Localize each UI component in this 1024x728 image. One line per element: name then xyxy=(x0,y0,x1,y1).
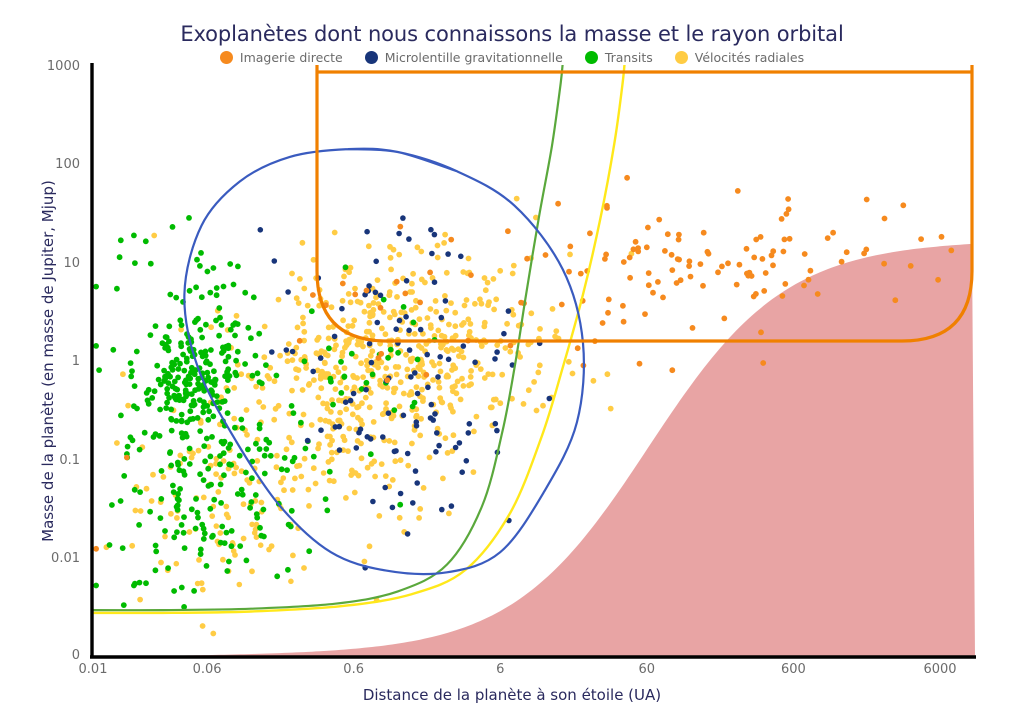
data-point xyxy=(223,359,229,365)
data-point xyxy=(621,259,627,265)
data-point xyxy=(436,443,442,449)
data-point xyxy=(534,408,540,414)
data-point xyxy=(758,329,764,335)
data-point xyxy=(178,340,184,346)
contour-transits xyxy=(86,54,564,611)
data-point xyxy=(382,485,388,491)
data-point xyxy=(149,498,155,504)
data-point xyxy=(296,367,302,373)
data-point xyxy=(450,388,456,394)
data-point xyxy=(197,397,203,403)
data-point xyxy=(332,334,338,340)
data-point xyxy=(181,456,187,462)
data-point xyxy=(148,332,154,338)
data-point xyxy=(459,469,465,475)
data-point xyxy=(433,298,439,304)
data-point xyxy=(468,374,474,380)
data-point xyxy=(121,602,127,608)
data-point xyxy=(383,365,389,371)
data-point xyxy=(444,347,450,353)
data-point xyxy=(249,568,255,574)
data-point xyxy=(242,361,248,367)
data-point xyxy=(806,277,812,283)
plot-area xyxy=(0,0,1024,728)
data-point xyxy=(177,317,183,323)
data-point xyxy=(379,326,385,332)
data-point xyxy=(725,260,731,266)
data-point xyxy=(129,543,135,549)
data-point xyxy=(162,534,168,540)
data-point xyxy=(354,445,360,451)
data-point xyxy=(227,373,233,379)
data-point xyxy=(453,333,459,339)
data-point xyxy=(346,340,352,346)
data-point xyxy=(368,436,374,442)
data-point xyxy=(379,461,385,467)
data-point xyxy=(543,252,549,258)
data-point xyxy=(464,458,470,464)
data-point xyxy=(125,403,131,409)
data-point xyxy=(392,440,398,446)
data-point xyxy=(315,395,321,401)
data-point xyxy=(93,343,99,349)
data-point xyxy=(337,447,343,453)
data-point xyxy=(186,215,192,221)
data-point xyxy=(306,503,312,509)
data-point xyxy=(390,477,396,483)
data-point xyxy=(239,487,245,493)
data-point xyxy=(416,515,422,521)
data-point xyxy=(315,446,321,452)
data-point xyxy=(348,299,354,305)
data-point xyxy=(367,341,373,347)
data-point xyxy=(225,410,231,416)
data-point xyxy=(908,263,914,269)
data-point xyxy=(645,225,651,231)
data-point xyxy=(191,588,197,594)
data-point xyxy=(881,261,887,267)
data-point xyxy=(327,376,333,382)
data-point xyxy=(467,329,473,335)
data-point xyxy=(301,565,307,571)
data-point xyxy=(229,543,235,549)
data-point xyxy=(428,227,434,233)
data-point xyxy=(669,367,675,373)
data-point xyxy=(388,267,394,273)
data-point xyxy=(143,238,149,244)
data-point xyxy=(386,438,392,444)
data-point xyxy=(621,319,627,325)
data-point xyxy=(153,543,159,549)
data-point xyxy=(132,260,138,266)
data-point xyxy=(802,251,808,257)
data-point xyxy=(125,444,131,450)
data-point xyxy=(505,228,511,234)
data-point xyxy=(408,358,414,364)
data-point xyxy=(166,395,172,401)
data-point xyxy=(461,383,467,389)
data-point xyxy=(409,307,415,313)
data-point xyxy=(130,437,136,443)
data-point xyxy=(96,367,102,373)
data-point xyxy=(401,391,407,397)
data-point xyxy=(198,551,204,557)
data-point xyxy=(329,304,335,310)
data-point xyxy=(444,372,450,378)
data-point xyxy=(412,400,418,406)
data-point xyxy=(430,417,436,423)
data-point xyxy=(196,386,202,392)
data-point xyxy=(298,474,304,480)
data-point xyxy=(497,400,503,406)
data-point xyxy=(297,338,303,344)
data-point xyxy=(187,381,193,387)
data-point xyxy=(168,407,174,413)
data-point xyxy=(348,398,354,404)
data-point xyxy=(200,409,206,415)
data-point xyxy=(359,400,365,406)
data-point xyxy=(669,267,675,273)
data-point xyxy=(286,341,292,347)
data-point xyxy=(349,351,355,357)
data-point xyxy=(222,540,228,546)
data-point xyxy=(217,315,223,321)
data-point xyxy=(318,427,324,433)
data-point xyxy=(365,367,371,373)
data-point xyxy=(665,231,671,237)
data-point xyxy=(333,342,339,348)
data-point xyxy=(200,623,206,629)
data-point xyxy=(644,244,650,250)
data-point xyxy=(437,354,443,360)
data-point xyxy=(234,313,240,319)
data-point xyxy=(284,347,290,353)
x-tick-label: 0.6 xyxy=(319,662,389,677)
data-point xyxy=(343,495,349,501)
data-point xyxy=(208,454,214,460)
data-point xyxy=(93,284,99,290)
data-point xyxy=(511,263,517,269)
data-point xyxy=(364,380,370,386)
data-point xyxy=(535,370,541,376)
data-point xyxy=(452,323,458,329)
data-point xyxy=(591,378,597,384)
data-point xyxy=(263,362,269,368)
data-point xyxy=(514,196,520,202)
data-point xyxy=(676,237,682,243)
data-point xyxy=(321,470,327,476)
data-point xyxy=(269,349,275,355)
data-point xyxy=(255,370,261,376)
data-point xyxy=(261,534,267,540)
data-point xyxy=(158,560,164,566)
data-point xyxy=(453,445,459,451)
data-point xyxy=(231,385,237,391)
data-point xyxy=(385,355,391,361)
data-point xyxy=(235,321,241,327)
data-point xyxy=(174,515,180,521)
data-point xyxy=(352,286,358,292)
data-point xyxy=(336,369,342,375)
data-point xyxy=(272,258,278,264)
data-point xyxy=(289,403,295,409)
data-point xyxy=(290,487,296,493)
data-point xyxy=(375,277,381,283)
data-point xyxy=(187,408,193,414)
data-point xyxy=(256,399,262,405)
data-point xyxy=(177,361,183,367)
data-point xyxy=(262,453,268,459)
data-point xyxy=(205,375,211,381)
data-point xyxy=(892,297,898,303)
data-point xyxy=(179,419,185,425)
data-point xyxy=(427,270,433,276)
data-point xyxy=(327,442,333,448)
data-point xyxy=(449,346,455,352)
data-point xyxy=(578,271,584,277)
data-point xyxy=(526,387,532,393)
data-point xyxy=(169,417,175,423)
data-point xyxy=(397,224,403,230)
data-point xyxy=(444,270,450,276)
data-point xyxy=(235,264,241,270)
data-point xyxy=(605,310,611,316)
data-point xyxy=(181,514,187,520)
data-point xyxy=(403,352,409,358)
data-point xyxy=(620,303,626,309)
data-point xyxy=(173,386,179,392)
data-point xyxy=(290,357,296,363)
data-point xyxy=(432,232,438,238)
data-point xyxy=(493,296,499,302)
data-point xyxy=(675,256,681,262)
data-point xyxy=(373,290,379,296)
data-point xyxy=(310,292,316,298)
data-point xyxy=(656,217,662,223)
data-point xyxy=(472,301,478,307)
data-point xyxy=(758,234,764,240)
data-point xyxy=(205,466,211,472)
data-point xyxy=(237,582,243,588)
data-point xyxy=(217,530,223,536)
data-point xyxy=(326,345,332,351)
data-point xyxy=(129,368,135,374)
data-point xyxy=(131,583,137,589)
data-point xyxy=(254,515,260,521)
data-point xyxy=(131,233,137,239)
data-point xyxy=(418,327,424,333)
data-point xyxy=(688,274,694,280)
data-point xyxy=(265,373,271,379)
data-point xyxy=(198,250,204,256)
data-point xyxy=(261,507,267,513)
data-point xyxy=(132,487,138,493)
data-point xyxy=(808,268,814,274)
data-point xyxy=(360,374,366,380)
data-point xyxy=(397,515,403,521)
data-point xyxy=(340,298,346,304)
data-point xyxy=(166,380,172,386)
x-tick-label: 0.01 xyxy=(58,662,128,677)
data-point xyxy=(324,508,330,514)
data-point xyxy=(137,489,143,495)
data-point xyxy=(117,254,123,260)
data-point xyxy=(404,367,410,373)
data-point xyxy=(517,354,523,360)
data-point xyxy=(326,336,332,342)
data-point xyxy=(528,310,534,316)
data-point xyxy=(642,311,648,317)
y-tick-label: 0 xyxy=(26,648,80,663)
data-point xyxy=(171,393,177,399)
data-point xyxy=(219,524,225,530)
data-point xyxy=(203,322,209,328)
data-point xyxy=(201,443,207,449)
data-point xyxy=(209,434,215,440)
data-point xyxy=(294,375,300,381)
data-point xyxy=(839,259,845,265)
data-point xyxy=(737,262,743,268)
data-point xyxy=(259,381,265,387)
data-point xyxy=(216,305,222,311)
data-point xyxy=(146,387,152,393)
data-point xyxy=(193,284,199,290)
data-point xyxy=(208,482,214,488)
data-point xyxy=(358,360,364,366)
data-point xyxy=(266,440,272,446)
data-point xyxy=(466,383,472,389)
data-point xyxy=(244,558,250,564)
data-point xyxy=(285,567,291,573)
data-point xyxy=(294,463,300,469)
data-point xyxy=(281,475,287,481)
data-point xyxy=(329,456,335,462)
data-point xyxy=(396,252,402,258)
data-point xyxy=(504,321,510,327)
data-point xyxy=(362,309,368,315)
data-point xyxy=(447,402,453,408)
data-point xyxy=(393,364,399,370)
data-point xyxy=(311,377,317,383)
data-point xyxy=(468,368,474,374)
data-point xyxy=(231,282,237,288)
data-point xyxy=(405,463,411,469)
data-point xyxy=(262,471,268,477)
data-point xyxy=(371,419,377,425)
data-point xyxy=(118,237,124,243)
data-point xyxy=(370,372,376,378)
data-point xyxy=(448,237,454,243)
data-point xyxy=(485,280,491,286)
data-point xyxy=(413,468,419,474)
data-point xyxy=(205,269,211,275)
data-point xyxy=(306,487,312,493)
data-point xyxy=(715,269,721,275)
data-point xyxy=(333,386,339,392)
data-point xyxy=(227,442,233,448)
data-point xyxy=(405,451,411,457)
data-point xyxy=(412,331,418,337)
data-point xyxy=(322,360,328,366)
data-point xyxy=(398,309,404,315)
data-point xyxy=(624,175,630,181)
data-point xyxy=(363,395,369,401)
data-point xyxy=(358,300,364,306)
data-point xyxy=(425,385,431,391)
data-point xyxy=(706,251,712,257)
data-point xyxy=(284,446,290,452)
data-point xyxy=(566,269,572,275)
data-point xyxy=(346,426,352,432)
data-point xyxy=(468,272,474,278)
data-point xyxy=(391,407,397,413)
data-point xyxy=(481,324,487,330)
data-point xyxy=(390,505,396,511)
data-point xyxy=(464,297,470,303)
data-point xyxy=(458,397,464,403)
data-point xyxy=(262,324,268,330)
data-point xyxy=(168,511,174,517)
data-point xyxy=(392,458,398,464)
data-point xyxy=(371,458,377,464)
data-point xyxy=(289,508,295,514)
data-point xyxy=(393,386,399,392)
data-point xyxy=(491,307,497,313)
data-point xyxy=(375,320,381,326)
data-point xyxy=(417,366,423,372)
data-point xyxy=(217,453,223,459)
data-point xyxy=(240,425,246,431)
data-point xyxy=(388,255,394,261)
data-point xyxy=(457,440,463,446)
data-point xyxy=(159,468,165,474)
data-point xyxy=(678,277,684,283)
data-point xyxy=(676,232,682,238)
data-point xyxy=(183,394,189,400)
data-point xyxy=(410,271,416,277)
data-point xyxy=(150,472,156,478)
data-point xyxy=(120,545,126,551)
data-point xyxy=(437,395,443,401)
data-point xyxy=(169,428,175,434)
data-point xyxy=(153,323,159,329)
data-point xyxy=(398,457,404,463)
data-point xyxy=(256,331,262,337)
data-point xyxy=(197,428,203,434)
data-point xyxy=(207,506,213,512)
data-point xyxy=(409,441,415,447)
data-point xyxy=(156,377,162,383)
data-point xyxy=(407,347,413,353)
data-point xyxy=(882,216,888,222)
data-point xyxy=(318,355,324,361)
data-point xyxy=(118,498,124,504)
data-point xyxy=(608,406,614,412)
data-point xyxy=(204,563,210,569)
data-point xyxy=(189,506,195,512)
data-point xyxy=(388,347,394,353)
data-point xyxy=(411,320,417,326)
data-point xyxy=(406,236,412,242)
data-point xyxy=(763,270,769,276)
data-point xyxy=(521,401,527,407)
data-point xyxy=(277,353,283,359)
data-point xyxy=(318,385,324,391)
data-point xyxy=(206,408,212,414)
data-point xyxy=(384,377,390,383)
data-point xyxy=(309,422,315,428)
data-point xyxy=(282,455,288,461)
